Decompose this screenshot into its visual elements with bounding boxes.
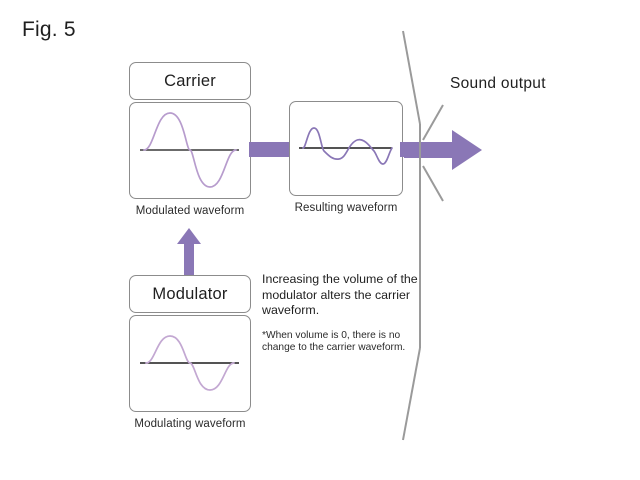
result-waveform-panel: [289, 101, 403, 196]
figure-title: Fig. 5: [22, 18, 76, 42]
modulator-unit: Modulator Modulating waveform: [129, 275, 251, 412]
result-caption: Resulting waveform: [289, 202, 403, 214]
note-main-text: Increasing the volume of the modulator a…: [262, 272, 434, 319]
sine-wave-one-cycle-icon: [130, 103, 249, 197]
result-unit: Resulting waveform: [289, 101, 403, 196]
modulator-header: Modulator: [129, 275, 251, 313]
explanatory-note: Increasing the volume of the modulator a…: [262, 272, 434, 355]
carrier-unit: Carrier Modulated waveform: [129, 62, 251, 199]
amplitude-modulated-wave-icon: [290, 102, 401, 194]
sound-output-label: Sound output: [450, 75, 546, 93]
sine-wave-one-cycle-low-amplitude-icon: [130, 316, 249, 410]
note-sub-text: *When volume is 0, there is no change to…: [262, 330, 434, 355]
modulator-to-carrier-arrow-icon: [176, 228, 202, 278]
modulator-caption: Modulating waveform: [129, 418, 251, 430]
carrier-to-result-connector: [249, 142, 293, 157]
carrier-header-label: Carrier: [164, 72, 216, 91]
figure-canvas: Fig. 5 Carrier Modulated waveform Result…: [0, 0, 640, 480]
modulator-header-label: Modulator: [152, 285, 227, 304]
carrier-header: Carrier: [129, 62, 251, 100]
carrier-caption: Modulated waveform: [129, 205, 251, 217]
carrier-waveform-panel: [129, 102, 251, 199]
modulator-waveform-panel: [129, 315, 251, 412]
